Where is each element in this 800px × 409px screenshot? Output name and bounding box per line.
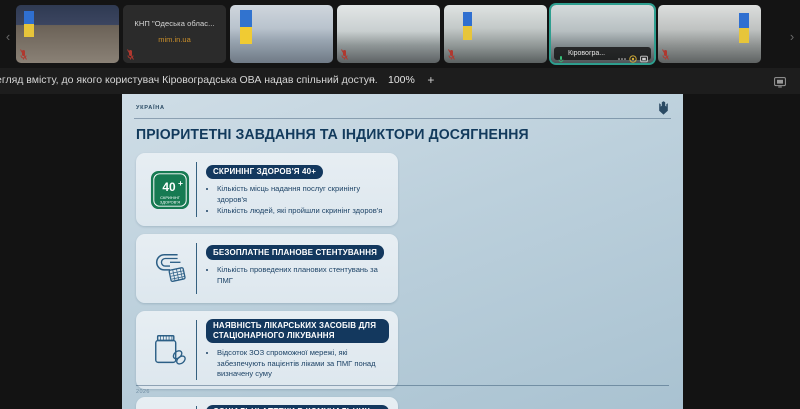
slide-header: УКРАЇНА	[134, 101, 671, 119]
participant-name-pill: Кіровогра...	[554, 47, 651, 60]
mic-muted-icon	[448, 49, 455, 60]
card-bullets: Кількість проведених планових стентувань…	[206, 265, 389, 286]
card-badge: СОЦІАЛЬНІ АПТЕКИ В КОМУНАЛЬНИХ ЛІКАРНЯХ	[206, 405, 389, 409]
share-notice-text: егляд вмісту, до якого користувач Кірово…	[0, 74, 378, 86]
participant-video	[16, 5, 119, 63]
card-badge: НАЯВНІСТЬ ЛІКАРСЬКИХ ЗАСОБІВ ДЛЯ СТАЦІОН…	[206, 319, 389, 344]
participant-tile-active[interactable]: Кіровогра...	[551, 5, 654, 63]
mic-muted-icon	[662, 49, 669, 60]
mic-muted-icon	[341, 49, 348, 60]
indicator-card-grid: 40 + СКРИНІНГ ЗДОРОВ'Я СКРИНІНГ ЗДОРОВ'Я…	[134, 153, 671, 409]
participant-tile[interactable]	[16, 5, 119, 63]
participant-tile[interactable]	[337, 5, 440, 63]
pin-icon[interactable]	[640, 50, 648, 58]
slide-page-number: 2026	[136, 389, 669, 395]
slide-footer: 2026	[136, 385, 669, 395]
indicator-card: 40 + СКРИНІНГ ЗДОРОВ'Я СКРИНІНГ ЗДОРОВ'Я…	[136, 153, 398, 226]
svg-text:+: +	[178, 178, 183, 188]
card-bullets: Відсоток ЗОЗ спроможної мережі, які забе…	[206, 348, 389, 379]
participant-filmstrip: ‹ › КНП "Одеська облас... mim.in.ua	[0, 0, 800, 68]
bullet-item: Кількість людей, які пройшли скринінг зд…	[217, 206, 389, 216]
zoom-controls: − 100% +	[367, 73, 436, 87]
screening-40plus-icon: 40 + СКРИНІНГ ЗДОРОВ'Я	[145, 161, 195, 218]
slide-title: ПРІОРИТЕТНІ ЗАВДАННЯ ТА ІНДИКТОРИ ДОСЯГН…	[136, 128, 653, 143]
card-divider	[196, 320, 197, 380]
svg-text:ЗДОРОВ'Я: ЗДОРОВ'Я	[160, 199, 180, 204]
more-options-icon[interactable]	[618, 50, 626, 58]
participant-tile[interactable]	[658, 5, 761, 63]
shared-slide: УКРАЇНА ПРІОРИТЕТНІ ЗАВДАННЯ ТА ІНДИКТОР…	[122, 94, 683, 409]
filmstrip-next-arrow[interactable]: ›	[785, 30, 799, 44]
indicator-card: СОЦІАЛЬНІ АПТЕКИ В КОМУНАЛЬНИХ ЛІКАРНЯХ …	[136, 397, 398, 409]
zoom-level-value: 100%	[388, 74, 415, 86]
ukraine-trident-icon	[658, 101, 669, 115]
participant-video	[658, 5, 761, 63]
zoom-in-button[interactable]: +	[426, 73, 436, 87]
mic-icon	[557, 50, 565, 58]
card-bullets: Кількість місць надання послуг скринінгу…	[206, 184, 389, 216]
zoom-out-button[interactable]: −	[367, 73, 377, 87]
bullet-item: Відсоток ЗОЗ спроможної мережі, які забе…	[217, 348, 389, 379]
svg-text:40: 40	[162, 179, 176, 193]
mic-muted-icon	[127, 49, 134, 60]
bullet-item: Кількість проведених планових стентувань…	[217, 265, 389, 286]
star-icon[interactable]	[629, 50, 637, 58]
blister-pack-icon	[145, 405, 195, 409]
card-badge: СКРИНІНГ ЗДОРОВ'Я 40+	[206, 165, 323, 180]
bullet-item: Кількість місць надання послуг скринінгу…	[217, 184, 389, 205]
card-divider	[196, 243, 197, 294]
participant-name: Кіровогра...	[568, 50, 615, 57]
card-badge: БЕЗОПЛАТНЕ ПЛАНОВЕ СТЕНТУВАННЯ	[206, 245, 384, 260]
indicator-card: НАЯВНІСТЬ ЛІКАРСЬКИХ ЗАСОБІВ ДЛЯ СТАЦІОН…	[136, 311, 398, 389]
participant-tile[interactable]	[230, 5, 333, 63]
participant-caption: КНП "Одеська облас...	[123, 19, 226, 28]
participant-tile[interactable]: КНП "Одеська облас... mim.in.ua	[123, 5, 226, 63]
participant-url: mim.in.ua	[123, 35, 226, 44]
stent-icon	[145, 242, 195, 295]
fullscreen-icon[interactable]	[774, 75, 786, 86]
slide-kicker: УКРАЇНА	[136, 105, 165, 111]
filmstrip-prev-arrow[interactable]: ‹	[1, 30, 15, 44]
indicator-card: БЕЗОПЛАТНЕ ПЛАНОВЕ СТЕНТУВАННЯ Кількість…	[136, 234, 398, 303]
mic-muted-icon	[20, 49, 27, 60]
screen-share-toolbar: егляд вмісту, до якого користувач Кірово…	[0, 68, 800, 94]
screen-share-window: ‹ › КНП "Одеська облас... mim.in.ua	[0, 0, 800, 409]
participant-tile[interactable]	[444, 5, 547, 63]
participant-video	[444, 5, 547, 63]
participant-video	[123, 5, 226, 63]
participant-video	[230, 5, 333, 63]
participant-video	[337, 5, 440, 63]
pill-bottle-icon	[145, 319, 195, 381]
card-divider	[196, 162, 197, 217]
